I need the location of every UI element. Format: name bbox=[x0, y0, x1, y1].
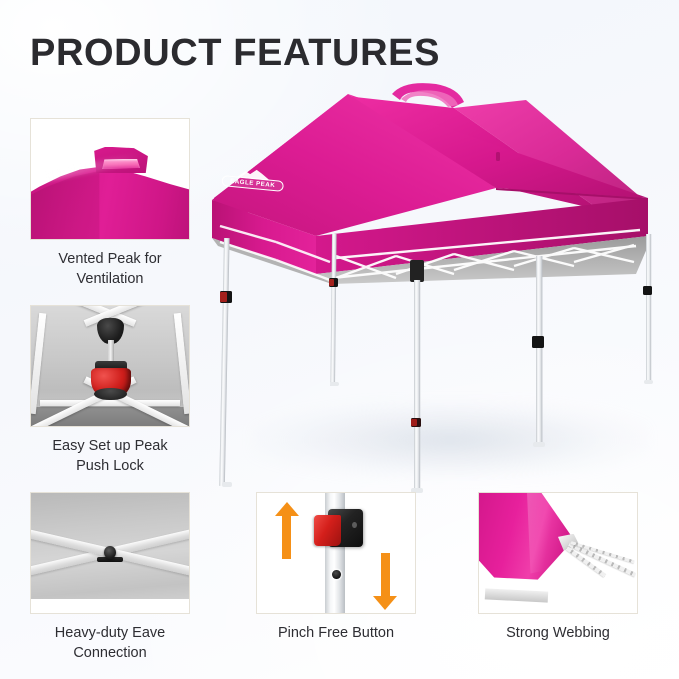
leg-lock-center bbox=[411, 418, 421, 427]
feature-thumb-pinch-free-button bbox=[256, 492, 416, 614]
leg-foot-right bbox=[533, 442, 545, 447]
caption-line-2: Connection bbox=[30, 643, 190, 663]
push-lock-red-button bbox=[91, 368, 131, 398]
canopy-center-hub bbox=[410, 260, 424, 282]
feature-thumb-eave-connection bbox=[30, 492, 190, 614]
leg-push-button-front-left bbox=[220, 291, 232, 303]
feature-card-strong-webbing: Strong Webbing bbox=[478, 492, 638, 643]
feature-card-peak-push-lock: Easy Set up Peak Push Lock bbox=[30, 305, 190, 476]
caption-line-1: Heavy-duty Eave bbox=[30, 623, 190, 643]
caption-line-1: Pinch Free Button bbox=[256, 623, 416, 643]
canopy-illustration bbox=[196, 78, 662, 508]
canopy-leg-front-left bbox=[219, 238, 229, 486]
caption-line-1: Easy Set up Peak bbox=[30, 436, 190, 456]
feature-thumb-vented-peak bbox=[30, 118, 190, 240]
canopy-leg-center bbox=[414, 280, 420, 492]
canopy-grommet bbox=[496, 152, 500, 161]
feature-caption-pinch-free-button: Pinch Free Button bbox=[256, 623, 416, 643]
page-title: PRODUCT FEATURES bbox=[30, 32, 440, 75]
feature-caption-eave-connection: Heavy-duty Eave Connection bbox=[30, 623, 190, 663]
feature-thumb-peak-push-lock bbox=[30, 305, 190, 427]
pinch-release-button bbox=[314, 515, 341, 546]
leg-push-button-far-right bbox=[643, 286, 652, 295]
caption-line-1: Vented Peak for bbox=[30, 249, 190, 269]
brand-logo-band: EAGLE PEAK bbox=[221, 175, 284, 192]
feature-card-pinch-free-button: Pinch Free Button bbox=[256, 492, 416, 643]
brand-logo-text: EAGLE PEAK bbox=[222, 176, 283, 191]
arrow-up-icon bbox=[282, 515, 291, 559]
leg-push-button-right bbox=[532, 336, 544, 348]
truss-bottom-rail bbox=[40, 400, 179, 406]
pole-adjust-hole bbox=[332, 570, 341, 580]
feature-caption-strong-webbing: Strong Webbing bbox=[478, 623, 638, 643]
leg-foot-front-left bbox=[222, 482, 232, 487]
leg-push-button-back-left bbox=[329, 278, 338, 287]
leg-foot-far-right bbox=[644, 380, 653, 384]
caption-line-2: Push Lock bbox=[30, 456, 190, 476]
arrow-down-icon bbox=[381, 553, 390, 597]
feature-caption-vented-peak: Vented Peak for Ventilation bbox=[30, 249, 190, 289]
feature-thumb-strong-webbing bbox=[478, 492, 638, 614]
canopy-leg-right bbox=[536, 256, 542, 446]
caption-line-2: Ventilation bbox=[30, 269, 190, 289]
product-features-page: PRODUCT FEATURES bbox=[0, 0, 679, 679]
product-hero-image: EAGLE PEAK bbox=[196, 78, 662, 508]
feature-caption-peak-push-lock: Easy Set up Peak Push Lock bbox=[30, 436, 190, 476]
feature-card-eave-connection: Heavy-duty Eave Connection bbox=[30, 492, 190, 663]
canopy-leg-far-right bbox=[646, 234, 651, 384]
feature-card-vented-peak: Vented Peak for Ventilation bbox=[30, 118, 190, 289]
caption-line-1: Strong Webbing bbox=[478, 623, 638, 643]
leg-foot-back-left bbox=[330, 382, 339, 386]
